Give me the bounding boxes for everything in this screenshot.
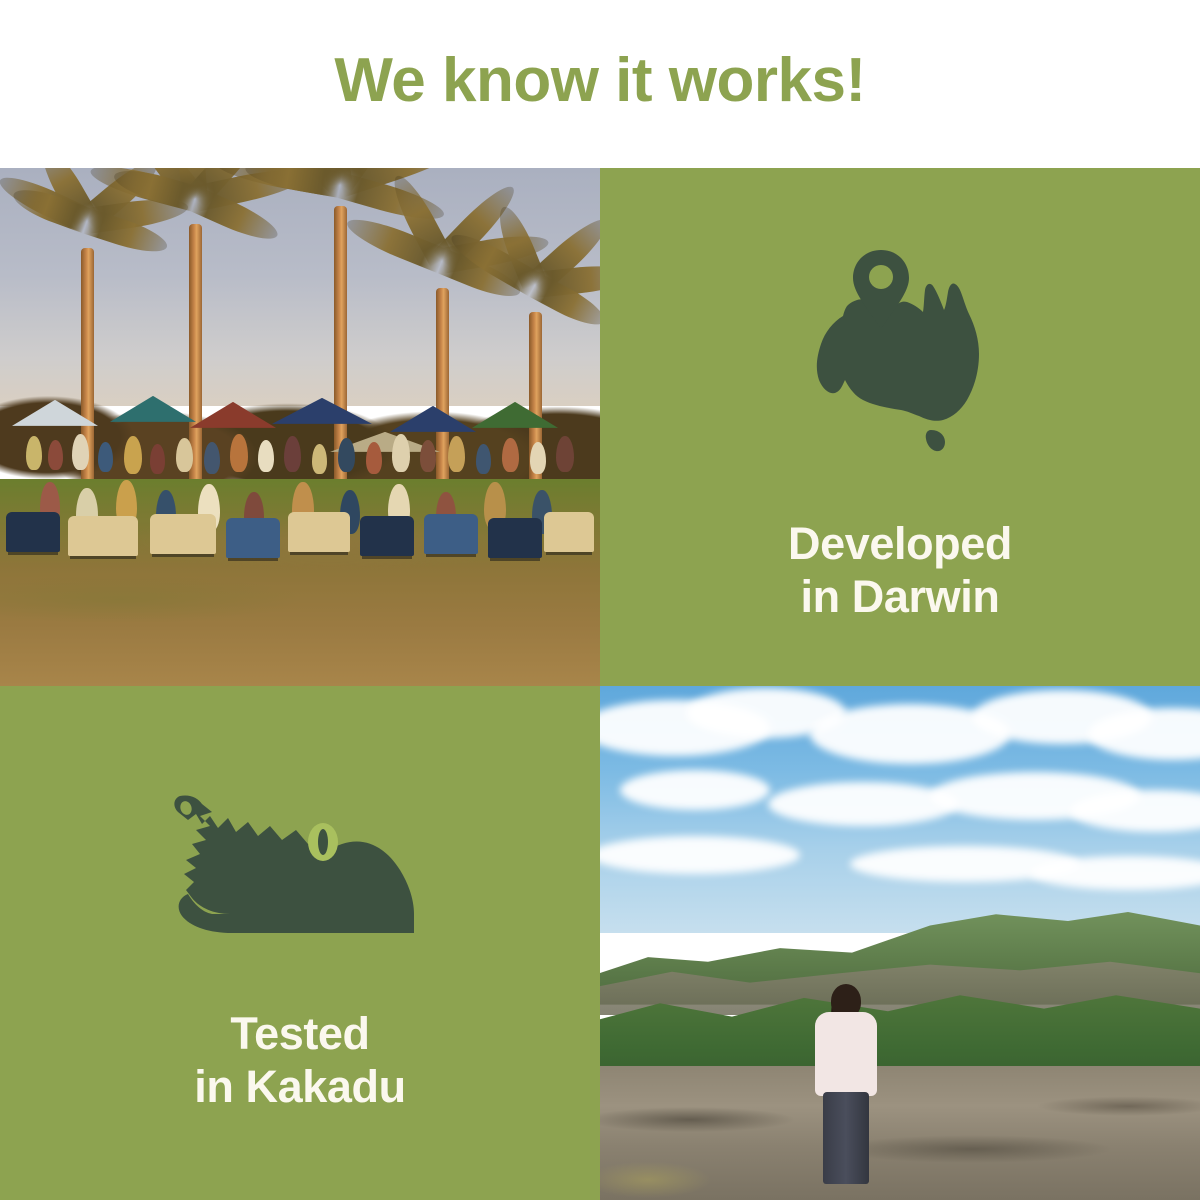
camp-chair xyxy=(68,516,138,556)
market-tent xyxy=(190,402,276,428)
header: We know it works! xyxy=(0,0,1200,168)
kakadu-caption-line2: in Kakadu xyxy=(194,1060,405,1113)
person-shirt xyxy=(815,1012,877,1096)
darwin-market-image xyxy=(0,168,600,686)
panel-tested-in-kakadu: Tested in Kakadu xyxy=(0,686,600,1200)
poster-page: We know it works! xyxy=(0,0,1200,1200)
crowd-figure xyxy=(176,438,193,472)
crowd-figure xyxy=(502,438,519,472)
kakadu-landscape-image xyxy=(600,686,1200,1200)
darwin-caption-line1: Developed xyxy=(788,517,1012,570)
crowd-layer xyxy=(0,396,600,572)
crowd-figure xyxy=(48,440,63,470)
crowd-figure xyxy=(530,442,546,474)
person-figure xyxy=(806,984,886,1192)
crowd-figure xyxy=(72,434,89,470)
cloud xyxy=(600,836,800,874)
panel-darwin-market-photo xyxy=(0,168,600,686)
camp-chair xyxy=(544,512,594,552)
crowd-figure xyxy=(26,436,42,470)
market-tent xyxy=(110,396,196,422)
crowd-figure xyxy=(476,444,491,474)
crowd-figure xyxy=(204,442,220,474)
crocodile-head-icon xyxy=(170,786,430,951)
kakadu-caption: Tested in Kakadu xyxy=(194,1007,405,1113)
panel-kakadu-landscape-photo xyxy=(600,686,1200,1200)
darwin-caption-line2: in Darwin xyxy=(788,570,1012,623)
market-tent xyxy=(272,398,372,424)
crowd-figure xyxy=(230,434,248,472)
camp-chair xyxy=(288,512,350,552)
crowd-figure xyxy=(366,442,382,474)
crowd-figure xyxy=(124,436,142,474)
camp-chair xyxy=(488,518,542,558)
darwin-caption: Developed in Darwin xyxy=(788,517,1012,623)
page-title: We know it works! xyxy=(334,50,865,118)
kakadu-caption-line1: Tested xyxy=(194,1007,405,1060)
camp-chair xyxy=(6,512,60,552)
cloud xyxy=(620,770,770,810)
crowd-figure xyxy=(150,444,165,474)
rocky-ground-layer xyxy=(600,1066,1200,1200)
market-tent xyxy=(472,402,558,428)
camp-chairs xyxy=(0,488,600,523)
crowd-figure xyxy=(338,438,355,472)
crowd-figure xyxy=(556,436,574,472)
crowd-figure xyxy=(392,434,410,472)
crowd-figure xyxy=(312,444,327,474)
crowd-figure xyxy=(448,436,465,472)
camp-chair xyxy=(150,514,216,554)
camp-chair xyxy=(226,518,280,558)
panel-grid: Developed in Darwin Tes xyxy=(0,168,1200,1200)
person-jeans xyxy=(823,1092,869,1184)
cloud xyxy=(768,782,958,826)
camp-chair xyxy=(424,514,478,554)
camp-chair xyxy=(360,516,414,556)
market-tent xyxy=(12,400,98,426)
market-tent xyxy=(390,406,476,432)
crowd-figure xyxy=(284,436,301,472)
crowd-figure xyxy=(258,440,274,472)
crowd-figure xyxy=(420,440,436,472)
australia-map-pin-icon xyxy=(795,240,1005,465)
panel-developed-in-darwin: Developed in Darwin xyxy=(600,168,1200,686)
crowd-figure xyxy=(98,442,113,472)
